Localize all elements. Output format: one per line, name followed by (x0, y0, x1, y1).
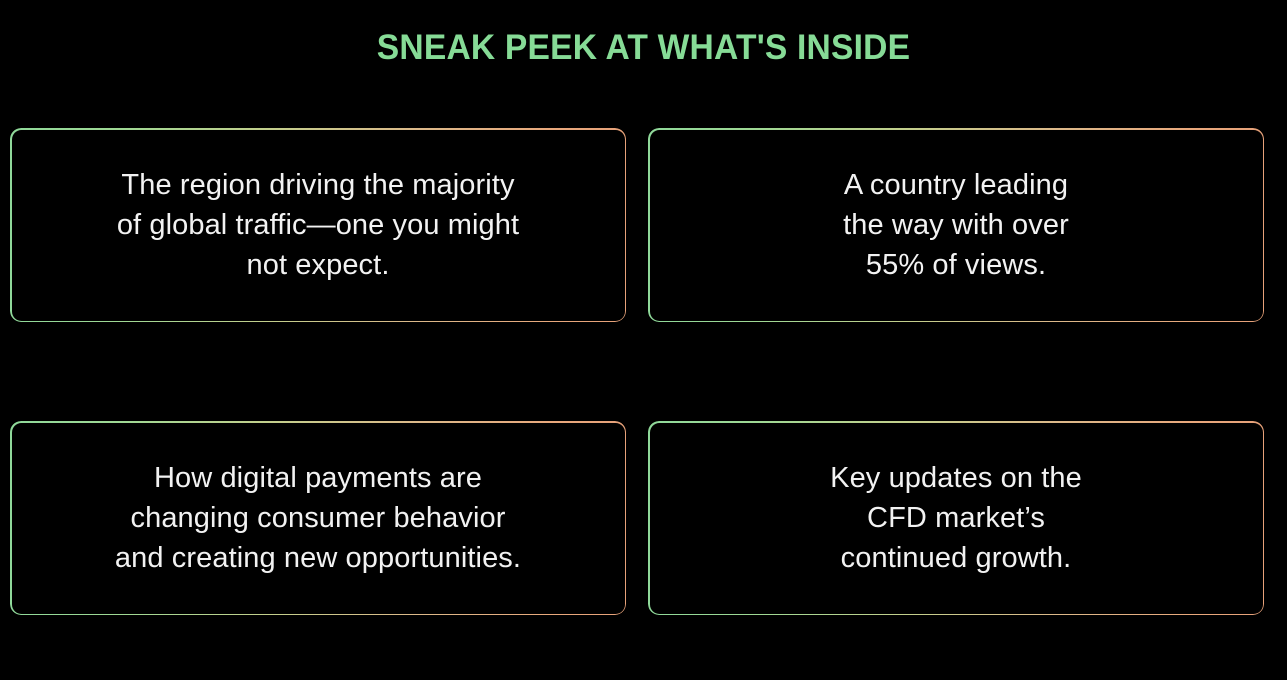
card-cfd-market: Key updates on the CFD market’s continue… (648, 421, 1264, 615)
card-region-traffic: The region driving the majority of globa… (10, 128, 626, 322)
page-title: SNEAK PEEK AT WHAT'S INSIDE (26, 26, 1262, 70)
card-country-views: A country leading the way with over 55% … (648, 128, 1264, 322)
card-text: Key updates on the CFD market’s continue… (830, 458, 1082, 578)
card-text: How digital payments are changing consum… (115, 458, 521, 578)
card-text: The region driving the majority of globa… (117, 165, 519, 285)
cards-grid: The region driving the majority of globa… (10, 128, 1264, 615)
card-text: A country leading the way with over 55% … (843, 165, 1069, 285)
card-digital-payments: How digital payments are changing consum… (10, 421, 626, 615)
